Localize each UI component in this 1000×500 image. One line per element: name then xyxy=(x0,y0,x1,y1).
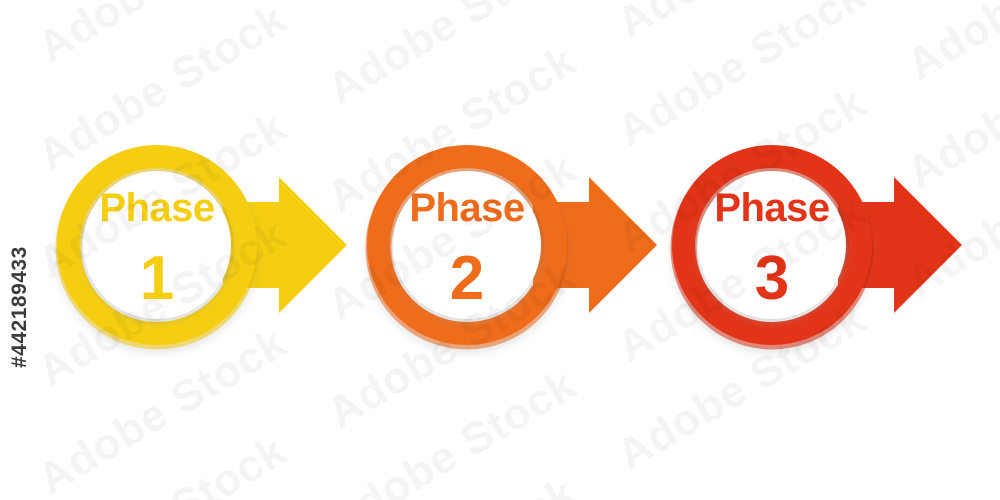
phase-inner-disc xyxy=(698,171,846,319)
watermark-image-id: #442189433 xyxy=(8,246,32,368)
phase-step-1[interactable] xyxy=(69,157,348,337)
phase-step-3[interactable] xyxy=(684,157,963,337)
phase-step-2[interactable] xyxy=(379,157,658,337)
phase-inner-disc xyxy=(393,171,541,319)
phase-inner-disc xyxy=(83,171,231,319)
phase-process-diagram xyxy=(0,0,1000,500)
image-canvas: Phase1Phase2Phase3 Adobe StockAdobe Stoc… xyxy=(0,0,1000,500)
